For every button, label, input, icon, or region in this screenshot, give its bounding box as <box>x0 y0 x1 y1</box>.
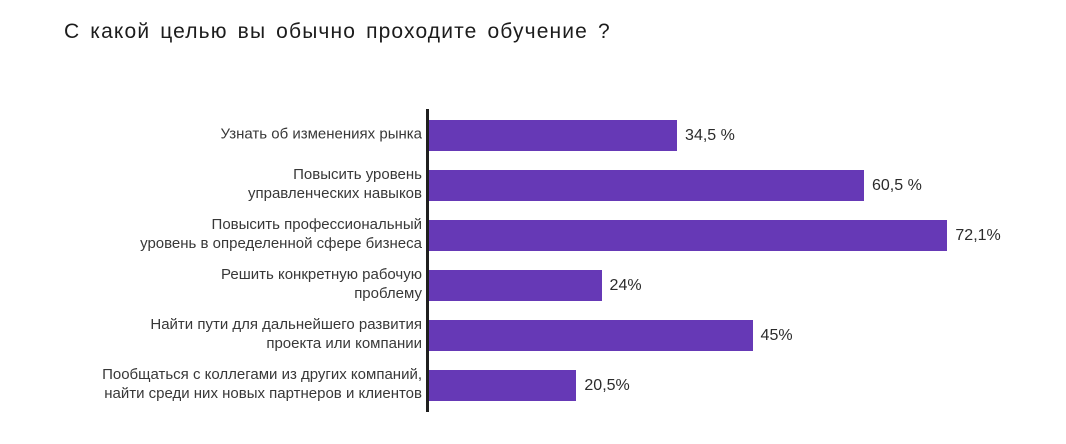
bar-value-label: 24% <box>610 270 642 301</box>
bar <box>429 120 677 151</box>
bar <box>429 270 602 301</box>
chart-plot-area: Узнать об изменениях рынка 34,5 % Повыси… <box>0 109 1066 415</box>
bar <box>429 170 864 201</box>
category-label: Решить конкретную рабочую проблему <box>2 265 422 303</box>
category-label: Повысить профессиональный уровень в опре… <box>2 215 422 253</box>
bar-value-label: 34,5 % <box>685 120 735 151</box>
bar-row: Найти пути для дальнейшего развития прое… <box>0 309 1066 359</box>
bar-value-label: 72,1% <box>955 220 1000 251</box>
bar <box>429 220 947 251</box>
bar <box>429 370 576 401</box>
bar-row: Решить конкретную рабочую проблему 24% <box>0 259 1066 309</box>
bar-row: Повысить уровень управленческих навыков … <box>0 159 1066 209</box>
bar-value-label: 45% <box>761 320 793 351</box>
bar-row: Пообщаться с коллегами из других компани… <box>0 359 1066 409</box>
bar-row: Узнать об изменениях рынка 34,5 % <box>0 109 1066 159</box>
bar <box>429 320 753 351</box>
bar-value-label: 20,5% <box>584 370 629 401</box>
bar-value-label: 60,5 % <box>872 170 922 201</box>
category-label: Найти пути для дальнейшего развития прое… <box>2 315 422 353</box>
page-title: С какой целью вы обычно проходите обучен… <box>64 20 611 44</box>
category-label: Повысить уровень управленческих навыков <box>2 165 422 203</box>
bar-row: Повысить профессиональный уровень в опре… <box>0 209 1066 259</box>
category-label: Узнать об изменениях рынка <box>2 125 422 144</box>
category-label: Пообщаться с коллегами из других компани… <box>2 365 422 403</box>
